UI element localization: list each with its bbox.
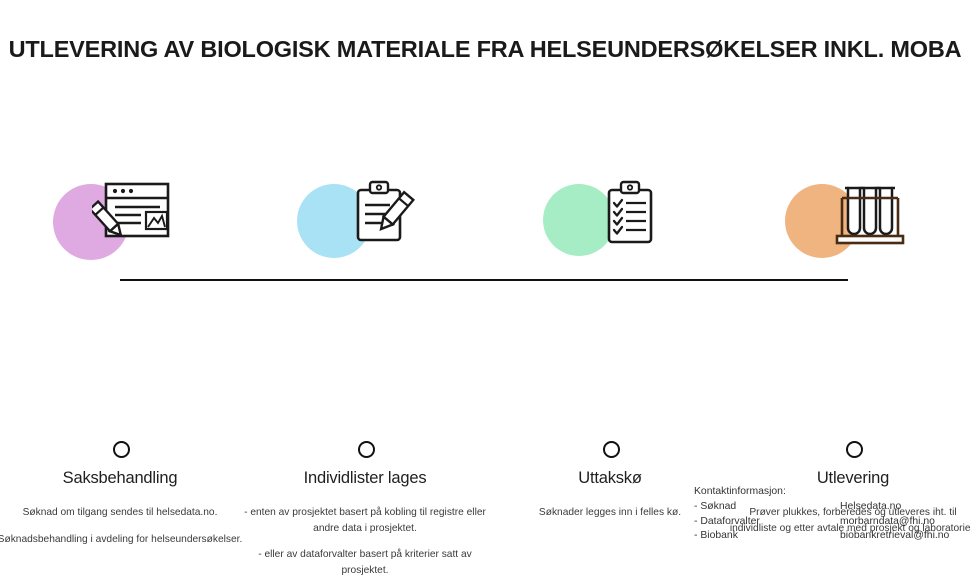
contact-information-block: Kontaktinformasjon: - Søknad Helsedata.n… <box>694 485 949 544</box>
step-icon-container <box>240 170 490 270</box>
step-body-line: - eller av dataforvalter basert på krite… <box>240 547 490 578</box>
contact-value-biobank[interactable]: biobankretrieval@fhi.no <box>840 529 949 544</box>
contact-heading: Kontaktinformasjon: <box>694 485 949 500</box>
timeline-step-individlister-lages: Individlister lages - enten av prosjekte… <box>240 170 490 270</box>
browser-window-pencil-icon <box>92 180 174 254</box>
timeline-step-saksbehandling: Saksbehandling Søknad om tilgang sendes … <box>0 170 245 270</box>
timeline-node-1[interactable] <box>113 441 130 458</box>
timeline-node-2[interactable] <box>358 441 375 458</box>
contact-label-soknad: - Søknad <box>694 500 840 515</box>
step-icon-container <box>0 170 245 270</box>
step-body-individlister-lages: - enten av prosjektet basert på kobling … <box>240 505 490 578</box>
step-body-line: Søknadsbehandling i avdeling for helseun… <box>0 532 245 548</box>
step-icon-container <box>728 170 970 270</box>
test-tube-rack-icon <box>824 180 908 254</box>
step-body-saksbehandling: Søknad om tilgang sendes til helsedata.n… <box>0 505 245 547</box>
step-icon-container <box>485 170 735 270</box>
contact-label-dataforvalter: - Dataforvalter <box>694 515 840 530</box>
step-body-line: - enten av prosjektet basert på kobling … <box>240 505 490 536</box>
step-title-individlister-lages: Individlister lages <box>240 469 490 488</box>
page-title: UTLEVERING AV BIOLOGISK MATERIALE FRA HE… <box>0 36 970 63</box>
contact-row: - Søknad Helsedata.no <box>694 500 949 515</box>
step-title-saksbehandling: Saksbehandling <box>0 469 245 488</box>
clipboard-checklist-icon <box>587 178 663 254</box>
timeline-axis-line <box>120 279 848 281</box>
clipboard-pencil-icon <box>340 178 420 254</box>
contact-value-soknad[interactable]: Helsedata.no <box>840 500 949 515</box>
step-body-line: Søknad om tilgang sendes til helsedata.n… <box>0 505 245 521</box>
timeline-step-uttaksko: Uttakskø Søknader legges inn i felles kø… <box>485 170 735 270</box>
timeline-node-4[interactable] <box>846 441 863 458</box>
contact-label-biobank: - Biobank <box>694 529 840 544</box>
contact-row: - Biobank biobankretrieval@fhi.no <box>694 529 949 544</box>
contact-value-dataforvalter[interactable]: morbarndata@fhi.no <box>840 515 949 530</box>
contact-row: - Dataforvalter morbarndata@fhi.no <box>694 515 949 530</box>
timeline-step-utlevering: Utlevering Prøver plukkes, forberedes og… <box>728 170 970 270</box>
timeline-node-3[interactable] <box>603 441 620 458</box>
